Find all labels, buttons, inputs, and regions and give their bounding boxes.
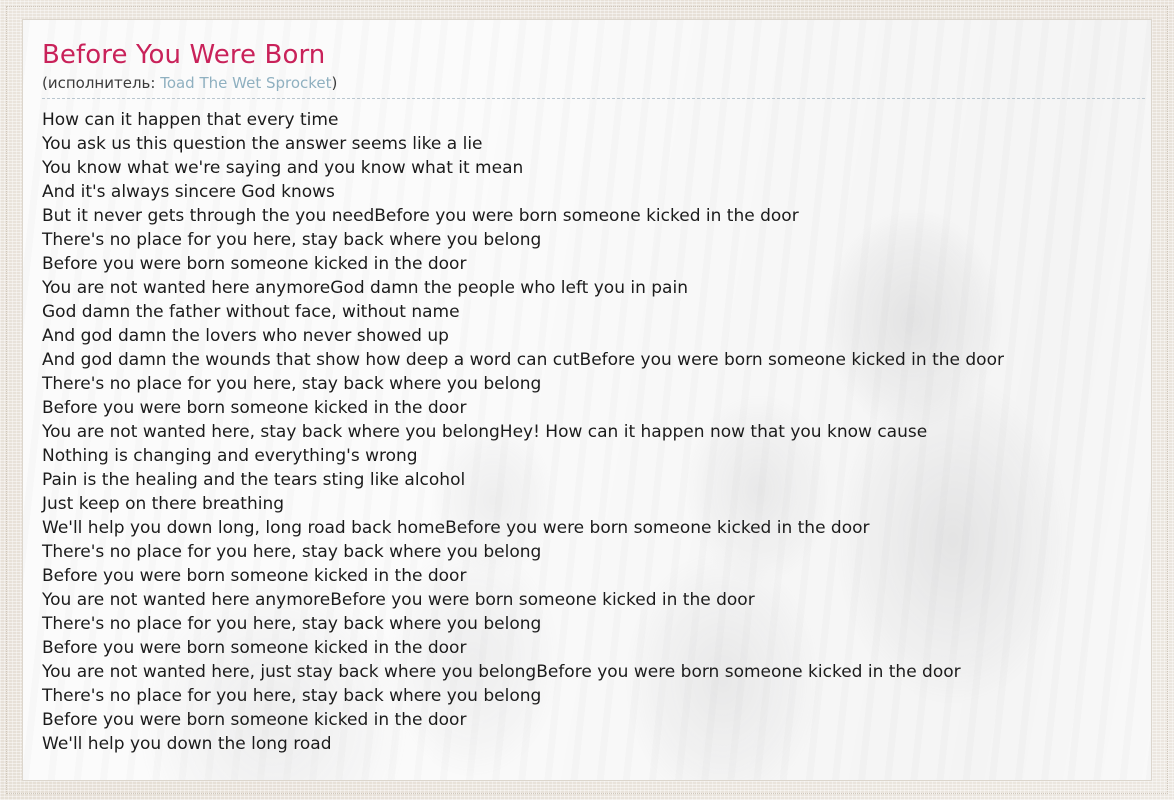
lyrics-line: Pain is the healing and the tears sting … <box>42 468 1152 492</box>
lyrics-line: Nothing is changing and everything's wro… <box>42 444 1152 468</box>
lyrics-line: There's no place for you here, stay back… <box>42 228 1152 252</box>
lyrics-line: God damn the father without face, withou… <box>42 300 1152 324</box>
lyrics-line: How can it happen that every time <box>42 108 1152 132</box>
lyrics-line: There's no place for you here, stay back… <box>42 372 1152 396</box>
header-divider <box>42 98 1145 99</box>
lyrics-line: You ask us this question the answer seem… <box>42 132 1152 156</box>
lyrics-line: You are not wanted here anymoreGod damn … <box>42 276 1152 300</box>
lyrics-list: How can it happen that every timeYou ask… <box>42 108 1152 756</box>
lyrics-line: Just keep on there breathing <box>42 492 1152 516</box>
lyrics-line: You are not wanted here anymoreBefore yo… <box>42 588 1152 612</box>
lyrics-sheet: Before You Were Born (исполнитель: Toad … <box>22 19 1152 781</box>
lyrics-line: There's no place for you here, stay back… <box>42 540 1152 564</box>
artist-link[interactable]: Toad The Wet Sprocket <box>160 74 331 92</box>
artist-label: (исполнитель: <box>42 74 160 92</box>
lyrics-line: Before you were born someone kicked in t… <box>42 252 1152 276</box>
artist-suffix: ) <box>332 74 338 92</box>
lyrics-line: There's no place for you here, stay back… <box>42 684 1152 708</box>
lyrics-line: And it's always sincere God knows <box>42 180 1152 204</box>
lyrics-line: You are not wanted here, stay back where… <box>42 420 1152 444</box>
artist-line: (исполнитель: Toad The Wet Sprocket) <box>42 74 1151 93</box>
lyrics-line: But it never gets through the you needBe… <box>42 204 1152 228</box>
lyrics-line: We'll help you down long, long road back… <box>42 516 1152 540</box>
lyrics-line: You know what we're saying and you know … <box>42 156 1152 180</box>
song-title: Before You Were Born <box>42 40 1151 70</box>
lyrics-line: Before you were born someone kicked in t… <box>42 564 1152 588</box>
lyrics-line: Before you were born someone kicked in t… <box>42 636 1152 660</box>
lyrics-line: Before you were born someone kicked in t… <box>42 396 1152 420</box>
lyrics-line: Before you were born someone kicked in t… <box>42 708 1152 732</box>
lyrics-line: There's no place for you here, stay back… <box>42 612 1152 636</box>
page-frame: Before You Were Born (исполнитель: Toad … <box>0 0 1174 800</box>
lyrics-line: And god damn the lovers who never showed… <box>42 324 1152 348</box>
lyrics-line: You are not wanted here, just stay back … <box>42 660 1152 684</box>
lyrics-line: And god damn the wounds that show how de… <box>42 348 1152 372</box>
lyrics-line: We'll help you down the long road <box>42 732 1152 756</box>
sheet-content: Before You Were Born (исполнитель: Toad … <box>23 20 1151 756</box>
